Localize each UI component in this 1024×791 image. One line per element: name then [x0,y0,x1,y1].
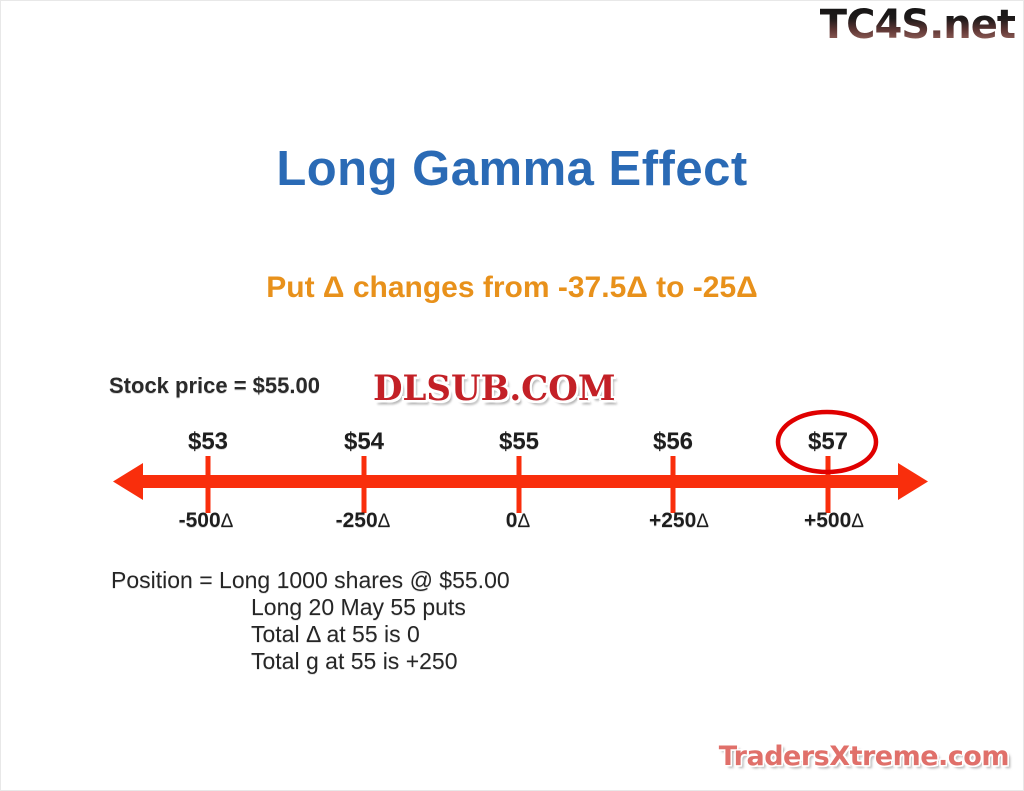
delta-symbol-icon: Δ [378,511,391,532]
delta-label-zero: 0Δ [506,509,530,533]
delta-label-minus250: -250Δ [336,509,391,533]
delta-symbol-icon: Δ [221,511,234,532]
position-line-4: Total g at 55 is +250 [111,648,510,675]
delta-symbol-icon: Δ [851,511,864,532]
price-label-53: $53 [188,428,228,456]
slide-canvas: TC4S.net Long Gamma Effect Put Δ changes… [0,0,1024,791]
delta-value: +500 [804,509,851,532]
delta-symbol-icon: Δ [696,511,709,532]
delta-label-minus500: -500Δ [179,509,234,533]
position-line-3: Total Δ at 55 is 0 [111,621,510,648]
number-line-diagram: Stock price = $55.00 $53 $54 $55 $56 [1,1,1024,791]
position-description: Position = Long 1000 shares @ $55.00 Lon… [111,567,510,676]
position-line-1: Position = Long 1000 shares @ $55.00 [111,567,510,594]
tradersxtreme-logo: TradersXtreme.com [719,741,1009,772]
delta-label-plus500: +500Δ [804,509,864,533]
dlsub-watermark: DLSUB.COM [373,369,615,410]
price-label-56: $56 [653,428,693,456]
price-label-54: $54 [344,428,384,456]
position-line-2: Long 20 May 55 puts [111,594,510,621]
delta-value: +250 [649,509,696,532]
delta-value: 0 [506,509,518,532]
delta-value: -250 [336,509,378,532]
axis-line [131,475,911,488]
delta-symbol-icon: Δ [517,511,530,532]
axis-arrow-right [898,463,928,500]
price-label-57: $57 [808,428,848,456]
axis-arrow-left [113,463,143,500]
price-label-55: $55 [499,428,539,456]
delta-value: -500 [179,509,221,532]
delta-label-plus250: +250Δ [649,509,709,533]
